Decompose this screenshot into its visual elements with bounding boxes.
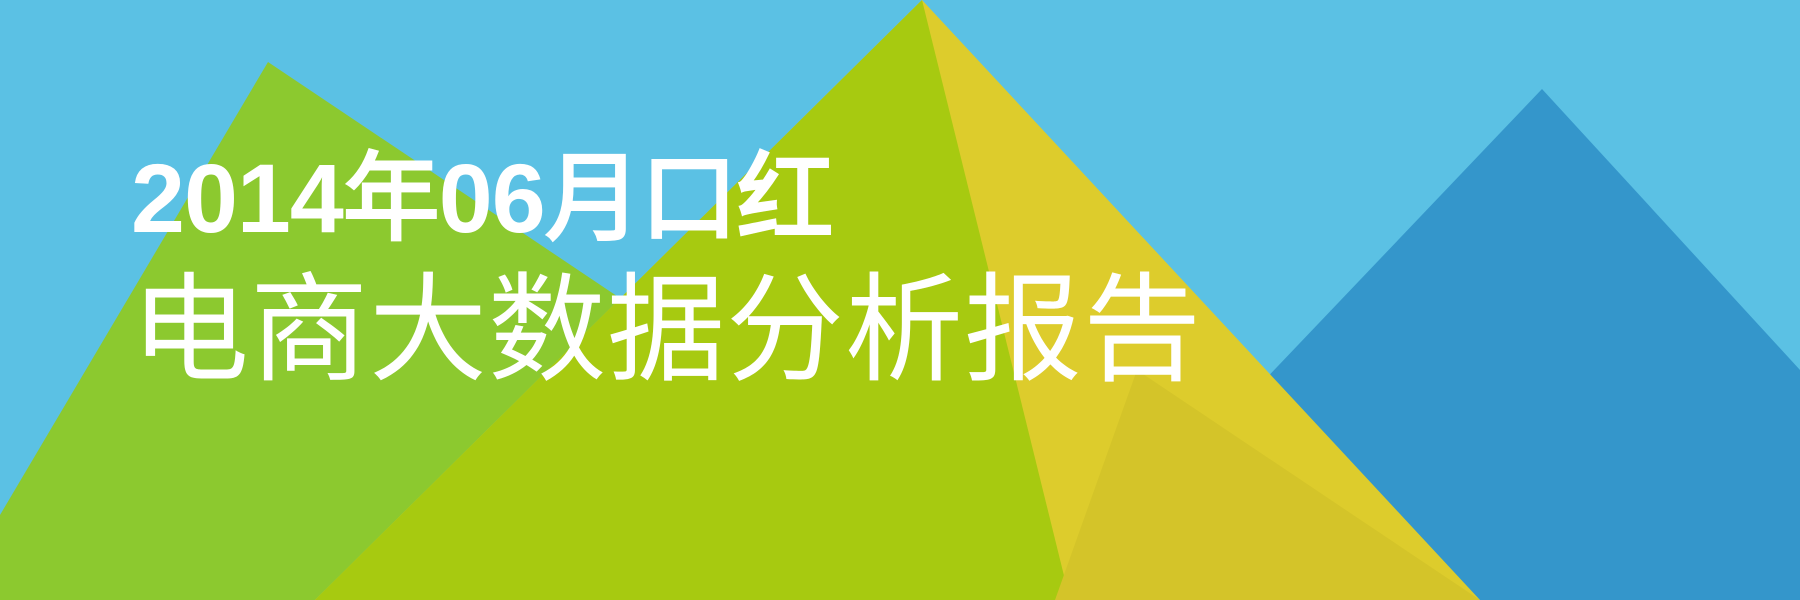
slide-root: 2014年06月口红 电商大数据分析报告 xyxy=(0,0,1800,600)
background-artwork xyxy=(0,0,1800,600)
